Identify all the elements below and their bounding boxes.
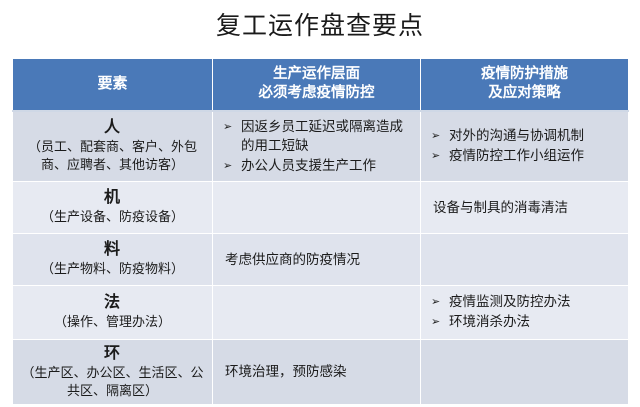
list-item-label: 疫情监测及防控办法	[449, 294, 571, 309]
slide-canvas: 复工运作盘查要点 要素 生产运作层面 必须考虑疫情防控 疫情防护措施 及应对策略	[0, 0, 640, 407]
factor-detail: （生产区、办公区、生活区、公共区、隔离区）	[19, 364, 206, 400]
list-item: ➢疫情监测及防控办法	[431, 292, 620, 311]
table-row: 法 （操作、管理办法） ➢疫情监测及防控办法 ➢环境消杀办法	[13, 285, 629, 339]
factor-cell-ren: 人 （员工、配套商、客户、外包商、应聘者、其他访客）	[13, 111, 213, 182]
table-row: 料 （生产物料、防疫物料） 考虑供应商的防疫情况	[13, 233, 629, 285]
list-item: ➢因返乡员工延迟或隔离造成的用工短缺	[223, 117, 412, 155]
list-item-label: 因返乡员工延迟或隔离造成的用工短缺	[241, 119, 403, 153]
factor-title: 人	[19, 118, 206, 138]
arrow-bullet-icon: ➢	[431, 292, 440, 311]
factor-cell-liao: 料 （生产物料、防疫物料）	[13, 233, 213, 285]
list-item: ➢对外的沟通与协调机制	[431, 126, 620, 145]
table-row: 机 （生产设备、防疫设备） 设备与制具的消毒清洁	[13, 181, 629, 233]
header-factor: 要素	[13, 59, 213, 111]
table-body: 人 （员工、配套商、客户、外包商、应聘者、其他访客） ➢因返乡员工延迟或隔离造成…	[13, 111, 629, 405]
table-row: 环 （生产区、办公区、生活区、公共区、隔离区） 环境治理，预防感染	[13, 339, 629, 404]
prevention-cell-liao	[421, 233, 629, 285]
list-item: ➢疫情防控工作小组运作	[431, 146, 620, 165]
list-item-label: 疫情防控工作小组运作	[449, 148, 584, 163]
factor-detail: （生产物料、防疫物料）	[19, 260, 206, 278]
factor-title: 料	[19, 240, 206, 260]
production-text: 考虑供应商的防疫情况	[223, 250, 412, 269]
table-row: 人 （员工、配套商、客户、外包商、应聘者、其他访客） ➢因返乡员工延迟或隔离造成…	[13, 111, 629, 182]
production-text: 环境治理，预防感染	[223, 362, 412, 381]
production-cell-liao: 考虑供应商的防疫情况	[213, 233, 421, 285]
prevention-bullet-list: ➢对外的沟通与协调机制 ➢疫情防控工作小组运作	[431, 126, 620, 165]
factor-detail: （生产设备、防疫设备）	[19, 208, 206, 226]
header-production-line1: 生产运作层面	[273, 66, 360, 82]
header-row: 要素 生产运作层面 必须考虑疫情防控 疫情防护措施 及应对策略	[13, 59, 629, 111]
prevention-cell-fa: ➢疫情监测及防控办法 ➢环境消杀办法	[421, 285, 629, 339]
page-title: 复工运作盘查要点	[0, 9, 640, 43]
production-cell-fa	[213, 285, 421, 339]
factor-title: 机	[19, 188, 206, 208]
arrow-bullet-icon: ➢	[431, 312, 440, 331]
list-item-label: 办公人员支援生产工作	[241, 158, 376, 173]
list-item: ➢办公人员支援生产工作	[223, 156, 412, 175]
arrow-bullet-icon: ➢	[431, 126, 440, 145]
list-item-label: 环境消杀办法	[449, 314, 530, 329]
arrow-bullet-icon: ➢	[223, 117, 232, 136]
factor-cell-ji: 机 （生产设备、防疫设备）	[13, 181, 213, 233]
factor-title: 环	[19, 344, 206, 364]
prevention-bullet-list: ➢疫情监测及防控办法 ➢环境消杀办法	[431, 292, 620, 331]
production-cell-ji	[213, 181, 421, 233]
factor-detail: （操作、管理办法）	[19, 313, 206, 331]
production-cell-ren: ➢因返乡员工延迟或隔离造成的用工短缺 ➢办公人员支援生产工作	[213, 111, 421, 182]
factor-title: 法	[19, 293, 206, 313]
factor-cell-fa: 法 （操作、管理办法）	[13, 285, 213, 339]
prevention-cell-huan	[421, 339, 629, 404]
arrow-bullet-icon: ➢	[431, 146, 440, 165]
resumption-checklist-table: 要素 生产运作层面 必须考虑疫情防控 疫情防护措施 及应对策略 人 （员工、配套…	[12, 58, 629, 405]
list-item: ➢环境消杀办法	[431, 312, 620, 331]
arrow-bullet-icon: ➢	[223, 156, 232, 175]
production-cell-huan: 环境治理，预防感染	[213, 339, 421, 404]
header-prevention-line2: 及应对策略	[488, 85, 561, 101]
header-production-line2: 必须考虑疫情防控	[259, 85, 375, 101]
production-bullet-list: ➢因返乡员工延迟或隔离造成的用工短缺 ➢办公人员支援生产工作	[223, 117, 412, 175]
factor-cell-huan: 环 （生产区、办公区、生活区、公共区、隔离区）	[13, 339, 213, 404]
prevention-text: 设备与制具的消毒清洁	[431, 198, 620, 217]
list-item-label: 对外的沟通与协调机制	[449, 128, 584, 143]
header-prevention-line1: 疫情防护措施	[481, 66, 568, 82]
header-production: 生产运作层面 必须考虑疫情防控	[213, 59, 421, 111]
header-prevention: 疫情防护措施 及应对策略	[421, 59, 629, 111]
table-header: 要素 生产运作层面 必须考虑疫情防控 疫情防护措施 及应对策略	[13, 59, 629, 111]
factor-detail: （员工、配套商、客户、外包商、应聘者、其他访客）	[19, 138, 206, 174]
prevention-cell-ren: ➢对外的沟通与协调机制 ➢疫情防控工作小组运作	[421, 111, 629, 182]
prevention-cell-ji: 设备与制具的消毒清洁	[421, 181, 629, 233]
